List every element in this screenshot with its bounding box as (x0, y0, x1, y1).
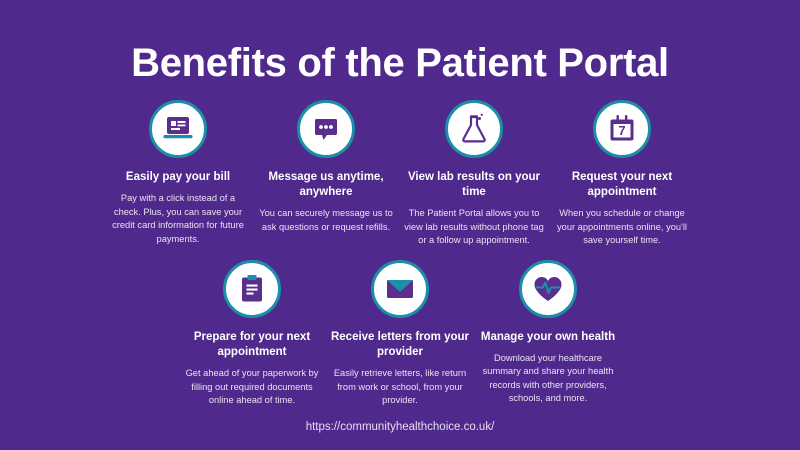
heart-pulse-icon (532, 274, 564, 304)
benefit-card-message-us[interactable]: Message us anytime, anywhere You can sec… (252, 100, 400, 234)
icon-circle (149, 100, 207, 158)
benefit-body: Pay with a click instead of a check. Plu… (108, 192, 248, 246)
benefit-title: Receive letters from your provider (330, 330, 470, 360)
benefit-body: The Patient Portal allows you to view la… (404, 207, 544, 247)
chat-bubble-icon (311, 114, 341, 144)
infographic-poster: Benefits of the Patient Portal Easily pa… (0, 0, 800, 450)
laptop-document-icon (162, 114, 194, 144)
benefits-row-1: Easily pay your bill Pay with a click in… (0, 100, 800, 248)
clipboard-icon (238, 273, 266, 305)
icon-circle (297, 100, 355, 158)
calendar-day-label: 7 (618, 123, 625, 138)
icon-circle (223, 260, 281, 318)
icon-circle (371, 260, 429, 318)
benefit-body: Download your healthcare summary and sha… (478, 352, 618, 406)
benefit-card-request-appointment[interactable]: 7 Request your next appointment When you… (548, 100, 696, 248)
icon-circle (445, 100, 503, 158)
benefit-body: Easily retrieve letters, like return fro… (330, 367, 470, 407)
benefit-title: View lab results on your time (404, 170, 544, 200)
benefit-title: Request your next appointment (552, 170, 692, 200)
benefit-body: You can securely message us to ask quest… (256, 207, 396, 234)
benefits-row-2: Prepare for your next appointment Get ah… (0, 260, 800, 408)
benefit-body: Get ahead of your paperwork by filling o… (182, 367, 322, 407)
benefit-title: Easily pay your bill (126, 170, 230, 185)
benefit-card-manage-health[interactable]: Manage your own health Download your hea… (474, 260, 622, 406)
page-title: Benefits of the Patient Portal (0, 0, 800, 84)
benefit-card-receive-letters[interactable]: Receive letters from your provider Easil… (326, 260, 474, 408)
icon-circle (519, 260, 577, 318)
benefit-title: Manage your own health (481, 330, 615, 345)
footer-url[interactable]: https://communityhealthchoice.co.uk/ (0, 421, 800, 433)
calendar-icon: 7 (606, 113, 638, 145)
benefit-card-prepare-appointment[interactable]: Prepare for your next appointment Get ah… (178, 260, 326, 408)
icon-circle: 7 (593, 100, 651, 158)
benefit-card-pay-bill[interactable]: Easily pay your bill Pay with a click in… (104, 100, 252, 246)
benefit-title: Message us anytime, anywhere (256, 170, 396, 200)
benefit-title: Prepare for your next appointment (182, 330, 322, 360)
benefit-card-lab-results[interactable]: View lab results on your time The Patien… (400, 100, 548, 248)
lab-flask-icon (459, 113, 489, 145)
envelope-icon (384, 276, 416, 302)
benefit-body: When you schedule or change your appoint… (552, 207, 692, 247)
